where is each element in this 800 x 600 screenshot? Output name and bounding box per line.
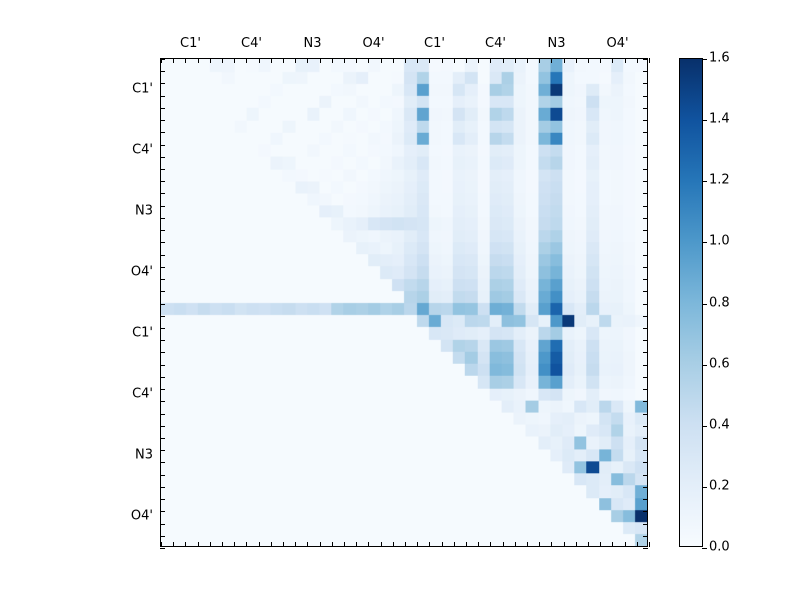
colorbar-tick-label: 1.0	[709, 235, 730, 248]
colorbar-tick-label: 0.4	[709, 418, 730, 431]
colorbar-tick-label: 1.6	[709, 52, 730, 65]
colorbar-tick	[702, 59, 707, 60]
x-tick-label: O4'	[362, 37, 384, 50]
colorbar-tick-label: 1.2	[709, 174, 730, 187]
y-tick-label: C1'	[108, 327, 153, 340]
x-tick-label: C1'	[180, 37, 201, 50]
colorbar-tick	[702, 120, 707, 121]
y-tick-label: C4'	[108, 388, 153, 401]
colorbar-tick-label: 0.2	[709, 479, 730, 492]
x-tick-label: C4'	[485, 37, 506, 50]
y-tick-label: O4'	[108, 265, 153, 278]
y-tick-label: N3	[108, 449, 153, 462]
colorbar-tick	[702, 365, 707, 366]
colorbar-tick-label: 0.6	[709, 357, 730, 370]
colorbar[interactable]	[679, 58, 703, 547]
colorbar-tick-label: 1.4	[709, 113, 730, 126]
y-tick-label: N3	[108, 204, 153, 217]
x-tick-label: C1'	[424, 37, 445, 50]
figure-canvas: C1'C4'N3O4'C1'C4'N3O4' C1'C4'N3O4'C1'C4'…	[0, 0, 800, 600]
colorbar-tick	[702, 426, 707, 427]
colorbar-tick-label: 0.8	[709, 296, 730, 309]
colorbar-tick	[702, 304, 707, 305]
x-tick-label: O4'	[606, 37, 628, 50]
colorbar-gradient	[680, 59, 702, 546]
colorbar-tick	[702, 487, 707, 488]
heatmap-image[interactable]	[161, 59, 647, 546]
colorbar-tick	[702, 242, 707, 243]
y-tick-label: C4'	[108, 143, 153, 156]
colorbar-tick	[702, 181, 707, 182]
heatmap-axes[interactable]	[160, 58, 648, 547]
y-tick-label: C1'	[108, 82, 153, 95]
x-tick-label: C4'	[241, 37, 262, 50]
colorbar-tick-label: 0.0	[709, 541, 730, 554]
colorbar-tick	[702, 548, 707, 549]
x-tick-label: N3	[548, 37, 566, 50]
y-tick-label: O4'	[108, 510, 153, 523]
x-tick-label: N3	[304, 37, 322, 50]
